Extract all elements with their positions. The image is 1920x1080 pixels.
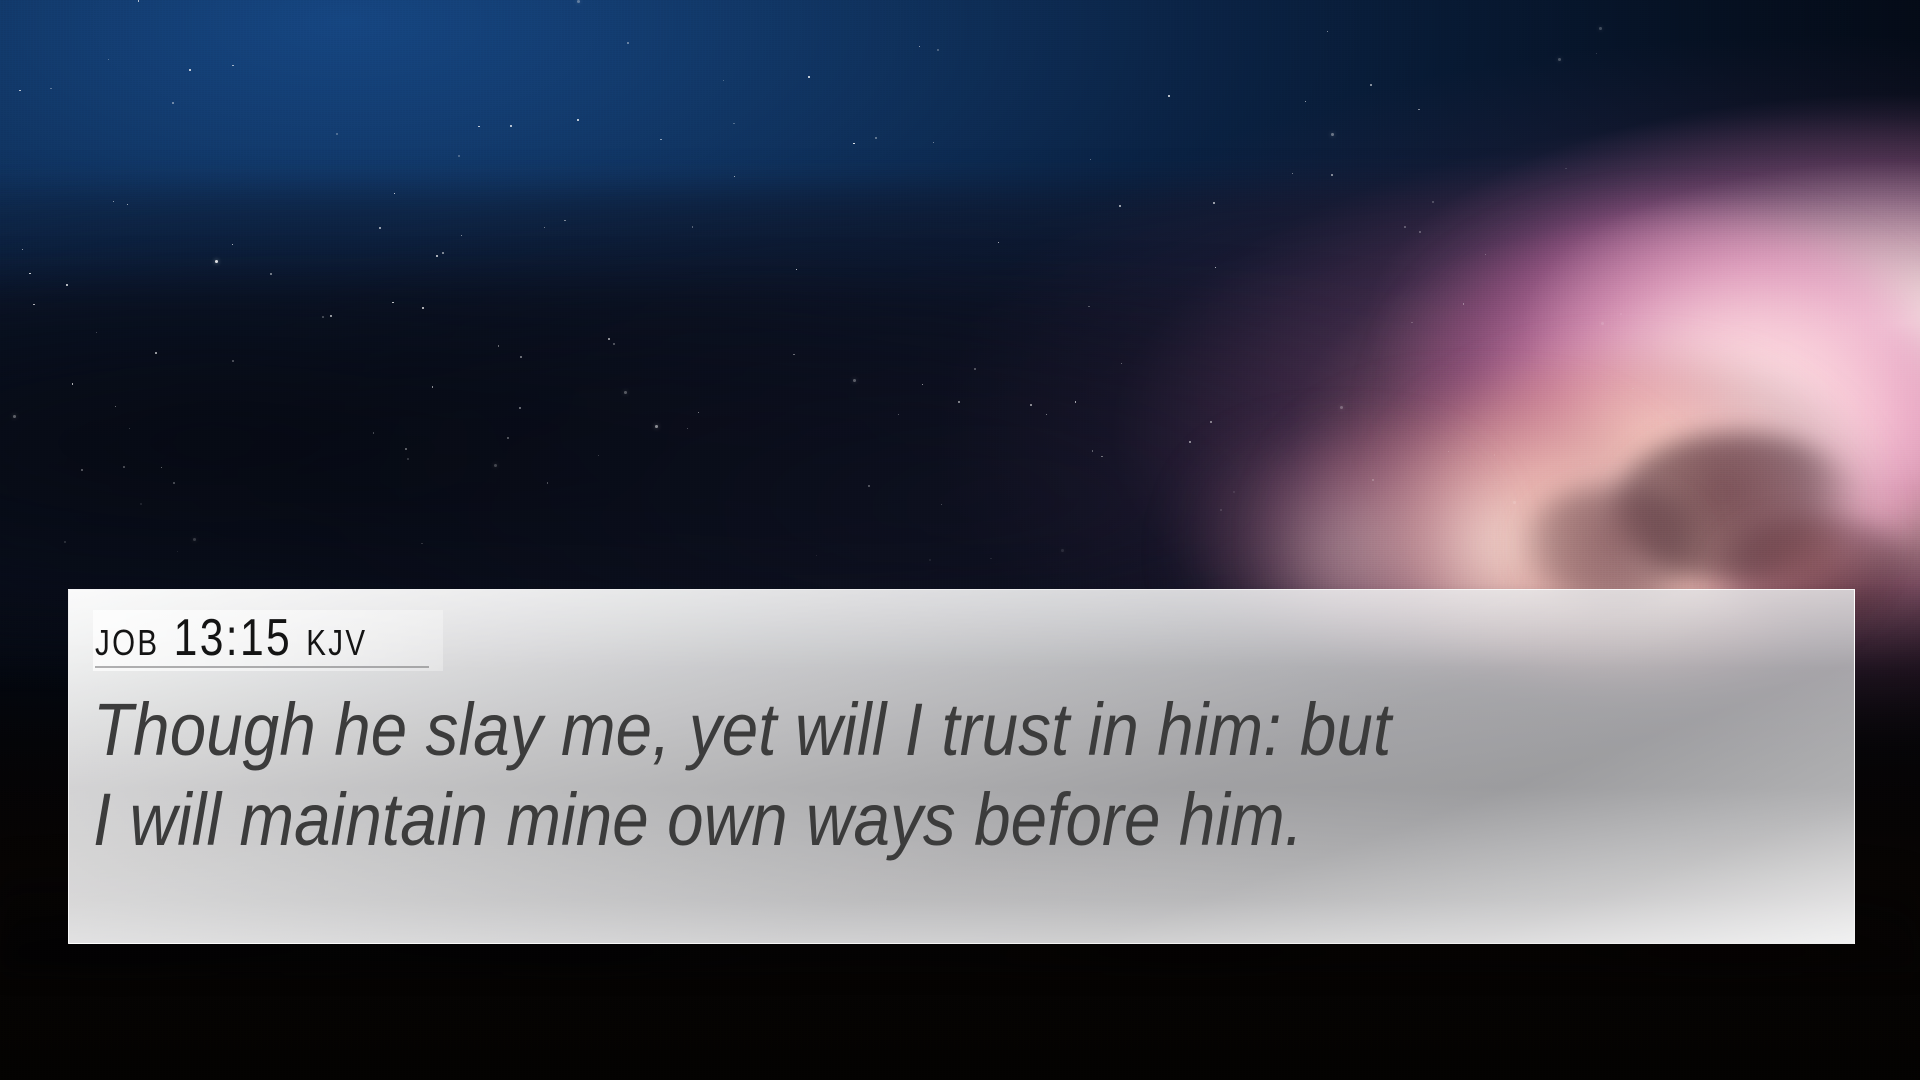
star-point bbox=[1558, 58, 1561, 61]
star-point bbox=[898, 414, 899, 415]
star-point bbox=[1372, 479, 1374, 481]
star-point bbox=[155, 352, 157, 354]
star-point bbox=[13, 415, 16, 418]
star-point bbox=[1432, 201, 1434, 203]
star-point bbox=[50, 88, 51, 89]
star-point bbox=[598, 455, 599, 456]
star-point bbox=[1331, 133, 1334, 136]
star-point bbox=[1101, 456, 1102, 457]
star-point bbox=[627, 42, 629, 44]
star-point bbox=[215, 260, 218, 263]
star-point bbox=[33, 304, 34, 305]
star-point bbox=[129, 428, 130, 429]
star-point bbox=[1418, 109, 1419, 110]
star-point bbox=[392, 302, 393, 303]
star-point bbox=[937, 49, 939, 51]
star-point bbox=[1620, 313, 1622, 315]
star-point bbox=[72, 383, 73, 384]
star-point bbox=[520, 356, 522, 358]
star-point bbox=[922, 384, 923, 385]
star-point bbox=[687, 428, 688, 429]
star-point bbox=[1601, 322, 1604, 325]
star-point bbox=[547, 482, 548, 483]
star-point bbox=[868, 485, 870, 487]
star-point bbox=[64, 541, 66, 543]
star-point bbox=[1590, 463, 1591, 464]
star-point bbox=[432, 386, 433, 387]
star-point bbox=[990, 558, 991, 559]
star-point bbox=[734, 176, 735, 177]
star-point bbox=[1075, 401, 1076, 402]
star-point bbox=[796, 269, 797, 270]
star-point bbox=[373, 432, 374, 433]
star-point bbox=[544, 227, 545, 228]
star-point bbox=[793, 354, 794, 355]
star-point bbox=[660, 139, 661, 140]
star-point bbox=[405, 448, 407, 450]
star-point bbox=[173, 482, 175, 484]
star-point bbox=[108, 59, 109, 60]
star-point bbox=[161, 467, 162, 468]
star-point bbox=[941, 504, 942, 505]
star-point bbox=[808, 76, 810, 78]
star-point bbox=[692, 226, 693, 227]
star-point bbox=[498, 345, 499, 346]
verse-card: Job 13:15 KJV Though he slay me, yet wil… bbox=[68, 589, 1855, 944]
star-point bbox=[177, 551, 178, 552]
star-point bbox=[608, 338, 610, 340]
verse-image-canvas: Job 13:15 KJV Though he slay me, yet wil… bbox=[0, 0, 1920, 1080]
star-point bbox=[193, 538, 196, 541]
star-point bbox=[816, 555, 817, 556]
star-point bbox=[1292, 173, 1293, 174]
star-point bbox=[998, 242, 999, 243]
star-point bbox=[270, 273, 272, 275]
star-point bbox=[113, 201, 114, 202]
star-point bbox=[1599, 27, 1602, 30]
star-point bbox=[172, 102, 174, 104]
star-point bbox=[1370, 84, 1372, 86]
star-point bbox=[436, 255, 438, 257]
star-point bbox=[1327, 31, 1328, 32]
star-point bbox=[1088, 306, 1089, 307]
star-point bbox=[1331, 174, 1333, 176]
star-point bbox=[189, 69, 191, 71]
star-point bbox=[232, 65, 233, 66]
star-point bbox=[510, 125, 512, 127]
star-point bbox=[96, 332, 97, 333]
star-point bbox=[1463, 303, 1464, 304]
star-point bbox=[140, 503, 142, 505]
star-point bbox=[394, 193, 395, 194]
star-point bbox=[1340, 406, 1343, 409]
star-point bbox=[1210, 421, 1212, 423]
star-point bbox=[507, 437, 509, 439]
star-point bbox=[1046, 414, 1047, 415]
star-point bbox=[1485, 254, 1486, 255]
star-point bbox=[1168, 95, 1170, 97]
star-point bbox=[22, 249, 23, 250]
star-point bbox=[81, 469, 83, 471]
verse-reference: Job 13:15 KJV bbox=[95, 612, 367, 664]
star-point bbox=[322, 316, 324, 318]
star-point bbox=[1448, 451, 1449, 452]
star-point bbox=[330, 315, 331, 316]
star-point bbox=[1305, 101, 1306, 102]
star-point bbox=[138, 0, 139, 1]
star-point bbox=[458, 155, 460, 157]
star-point bbox=[379, 227, 381, 229]
star-point bbox=[1419, 231, 1421, 233]
star-point bbox=[422, 307, 424, 309]
star-point bbox=[1092, 450, 1093, 451]
star-point bbox=[1233, 491, 1235, 493]
star-point bbox=[1215, 267, 1216, 268]
star-point bbox=[1189, 441, 1190, 442]
star-point bbox=[1030, 404, 1032, 406]
star-point bbox=[1213, 202, 1214, 203]
star-point bbox=[1632, 388, 1633, 389]
star-point bbox=[698, 412, 699, 413]
star-point bbox=[442, 252, 444, 254]
star-point bbox=[1494, 454, 1495, 455]
reference-underline-rule bbox=[95, 666, 429, 668]
star-point bbox=[1220, 509, 1222, 511]
star-point bbox=[577, 119, 579, 121]
star-point bbox=[1596, 53, 1597, 54]
star-point bbox=[1404, 226, 1406, 228]
star-point bbox=[624, 391, 627, 394]
star-point bbox=[232, 360, 234, 362]
star-point bbox=[655, 425, 658, 428]
star-point bbox=[421, 543, 422, 544]
star-point bbox=[853, 379, 856, 382]
star-point bbox=[1061, 549, 1064, 552]
star-point bbox=[19, 90, 20, 91]
verse-card-content: Job 13:15 KJV Though he slay me, yet wil… bbox=[69, 590, 1854, 866]
star-point bbox=[733, 123, 734, 124]
star-point bbox=[933, 142, 934, 143]
star-point bbox=[336, 133, 338, 135]
star-point bbox=[232, 244, 233, 245]
star-point bbox=[853, 143, 854, 144]
verse-line-2: I will maintain mine own ways before him… bbox=[93, 775, 1825, 865]
star-point bbox=[1513, 501, 1516, 504]
verse-body: Though he slay me, yet will I trust in h… bbox=[93, 685, 1825, 866]
star-point bbox=[958, 401, 960, 403]
star-point bbox=[929, 559, 931, 561]
star-point bbox=[613, 343, 615, 345]
star-point bbox=[1090, 159, 1091, 160]
star-point bbox=[478, 126, 479, 127]
star-point bbox=[919, 46, 920, 47]
verse-line-1: Though he slay me, yet will I trust in h… bbox=[93, 685, 1825, 775]
star-point bbox=[29, 273, 30, 274]
star-point bbox=[127, 204, 128, 205]
star-point bbox=[875, 137, 877, 139]
star-point bbox=[1565, 168, 1566, 169]
star-point bbox=[1121, 363, 1122, 364]
star-point bbox=[115, 406, 116, 407]
star-point bbox=[1411, 322, 1412, 323]
verse-reference-block: Job 13:15 KJV bbox=[93, 610, 443, 671]
star-point bbox=[564, 220, 565, 221]
star-point bbox=[1119, 205, 1121, 207]
star-point bbox=[461, 235, 462, 236]
star-point bbox=[519, 407, 521, 409]
star-point bbox=[723, 80, 724, 81]
star-point bbox=[66, 284, 68, 286]
star-point bbox=[974, 368, 976, 370]
star-point bbox=[494, 464, 497, 467]
star-point bbox=[123, 466, 125, 468]
star-point bbox=[407, 458, 409, 460]
star-point bbox=[577, 0, 580, 3]
